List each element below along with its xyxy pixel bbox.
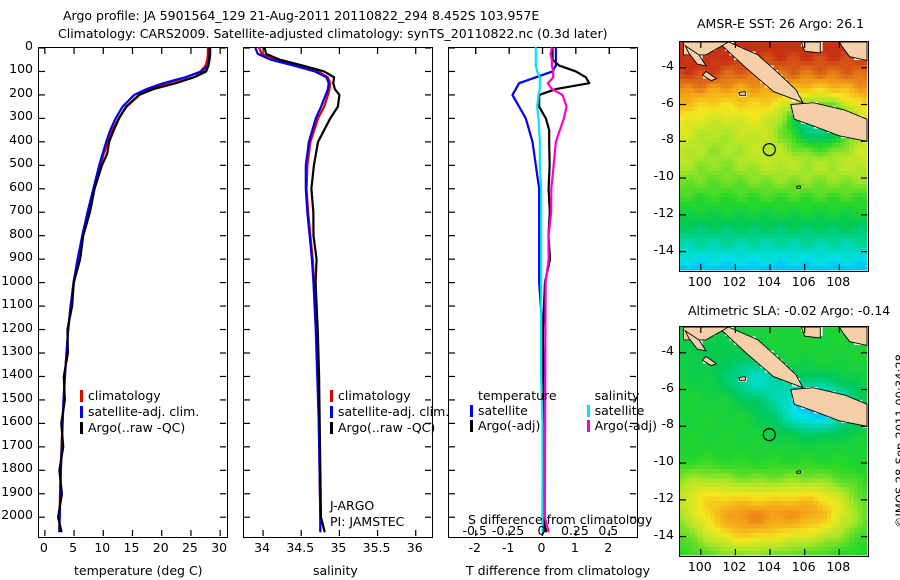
tick-label: 5 <box>69 540 77 555</box>
legend-swatch-climatology-s <box>330 390 333 402</box>
tick-label: -14 <box>654 242 674 257</box>
sst-map-title: AMSR-E SST: 26 Argo: 26.1 <box>697 16 864 31</box>
legend-swatch-argo-s <box>330 422 333 434</box>
tick-label: -8 <box>662 131 674 146</box>
tick-label: 700 <box>9 202 33 217</box>
legend-item-t-satellite: satellite <box>470 403 557 418</box>
sla-map-svg <box>680 327 867 555</box>
difference-xaxis-label-bottom: T difference from climatology <box>466 563 650 578</box>
tick-label: 1900 <box>1 484 33 499</box>
tick-label: -6 <box>662 95 674 110</box>
tick-label: 1300 <box>1 343 33 358</box>
tick-label: 34 <box>254 540 270 555</box>
tick-label: -10 <box>654 168 674 183</box>
tick-label: 102 <box>722 559 746 574</box>
temperature-profile-panel <box>38 47 228 538</box>
legend-item-satellite: satellite-adj. clim. <box>80 404 199 419</box>
legend-label-climatology-s: climatology <box>338 388 411 403</box>
tick-label: 30 <box>211 540 227 555</box>
tick-label: 200 <box>9 85 33 100</box>
salinity-profile-panel <box>243 47 433 538</box>
temperature-xaxis-label: temperature (deg C) <box>74 563 203 578</box>
tick-label: 106 <box>792 274 816 289</box>
tick-label: 1 <box>571 540 579 555</box>
tick-label: 1200 <box>1 320 33 335</box>
legend-header-salinity: salinity <box>595 388 657 403</box>
salinity-legend: climatology satellite-adj. clim. Argo(..… <box>330 388 449 435</box>
tick-label: 35 <box>330 540 346 555</box>
tick-label: 0.5 <box>598 523 618 538</box>
tick-label: 2 <box>604 540 612 555</box>
legend-swatch-s-argo <box>587 420 590 432</box>
tick-label: -6 <box>662 380 674 395</box>
salinity-annotation-pi: PI: JAMSTEC <box>330 514 404 529</box>
tick-label: 0 <box>40 540 48 555</box>
tick-label: -12 <box>654 205 674 220</box>
tick-label: 106 <box>792 559 816 574</box>
salinity-plot-svg <box>244 48 431 536</box>
legend-item-s-satellite: satellite <box>587 403 657 418</box>
legend-label-satellite-s: satellite-adj. clim. <box>338 404 449 419</box>
tick-label: 2000 <box>1 507 33 522</box>
difference-legend: temperature satellite Argo(-adj) salinit… <box>470 388 657 433</box>
tick-label: 1000 <box>1 273 33 288</box>
difference-profile-panel <box>448 47 638 538</box>
tick-label: 1800 <box>1 460 33 475</box>
tick-label: 300 <box>9 108 33 123</box>
legend-swatch-climatology <box>80 390 83 402</box>
tick-label: 1400 <box>1 366 33 381</box>
legend-label-t-argo: Argo(-adj) <box>478 418 540 433</box>
legend-label-s-satellite: satellite <box>595 403 645 418</box>
tick-label: 500 <box>9 155 33 170</box>
tick-label: 100 <box>688 559 712 574</box>
legend-label-satellite: satellite-adj. clim. <box>88 404 199 419</box>
tick-label: 108 <box>826 559 850 574</box>
tick-label: 104 <box>757 559 781 574</box>
tick-label: 36 <box>407 540 423 555</box>
tick-label: 0.25 <box>561 523 589 538</box>
tick-label: 102 <box>722 274 746 289</box>
copyright-label: ©IMOS 28-Sep-2011 00:34:28 <box>893 354 900 528</box>
tick-label: -4 <box>662 58 674 73</box>
copyright-text: ©IMOS 28-Sep-2011 00:34:28 <box>893 528 900 542</box>
figure-title-line1: Argo profile: JA 5901564_129 21-Aug-2011… <box>63 8 539 23</box>
tick-label: 900 <box>9 249 33 264</box>
legend-item-satellite-s: satellite-adj. clim. <box>330 404 449 419</box>
legend-swatch-satellite <box>80 406 83 418</box>
legend-swatch-s-satellite <box>587 405 590 417</box>
legend-header-temperature: temperature <box>478 388 557 403</box>
tick-label: 25 <box>182 540 198 555</box>
tick-label: 0 <box>538 523 546 538</box>
legend-item-t-argo: Argo(-adj) <box>470 418 557 433</box>
legend-item-s-argo: Argo(-adj) <box>587 418 657 433</box>
tick-label: 800 <box>9 226 33 241</box>
temperature-legend: climatology satellite-adj. clim. Argo(..… <box>80 388 199 435</box>
legend-label-t-satellite: satellite <box>478 403 528 418</box>
legend-label-argo-s: Argo(..raw -QC) <box>338 420 435 435</box>
tick-label: -14 <box>654 527 674 542</box>
salinity-xaxis-label: salinity <box>313 563 358 578</box>
tick-label: 15 <box>124 540 140 555</box>
tick-label: -8 <box>662 416 674 431</box>
tick-label: 104 <box>757 274 781 289</box>
sst-map-panel <box>679 41 869 272</box>
legend-label-s-argo: Argo(-adj) <box>595 418 657 433</box>
legend-item-argo-s: Argo(..raw -QC) <box>330 420 449 435</box>
difference-legend-col-temperature: temperature satellite Argo(-adj) <box>470 388 557 433</box>
tick-label: 100 <box>688 274 712 289</box>
tick-label: -10 <box>654 453 674 468</box>
tick-label: -0.5 <box>463 523 487 538</box>
tick-label: 100 <box>9 61 33 76</box>
legend-label-climatology: climatology <box>88 388 161 403</box>
legend-swatch-satellite-s <box>330 406 333 418</box>
tick-label: -0.25 <box>492 523 524 538</box>
tick-label: 34.5 <box>286 540 314 555</box>
legend-label-argo: Argo(..raw -QC) <box>88 420 185 435</box>
tick-label: -12 <box>654 490 674 505</box>
tick-label: -4 <box>662 343 674 358</box>
tick-label: -1 <box>502 540 514 555</box>
tick-label: 0 <box>538 540 546 555</box>
tick-label: -2 <box>468 540 480 555</box>
tick-label: 1700 <box>1 437 33 452</box>
temperature-plot-svg <box>39 48 226 536</box>
salinity-annotation-jargo: J-ARGO <box>330 498 374 513</box>
difference-plot-svg <box>449 48 636 536</box>
tick-label: 1500 <box>1 390 33 405</box>
legend-item-argo: Argo(..raw -QC) <box>80 420 199 435</box>
tick-label: 400 <box>9 132 33 147</box>
legend-swatch-t-satellite <box>470 405 473 417</box>
sla-map-title: Altimetric SLA: -0.02 Argo: -0.14 <box>688 303 890 318</box>
tick-label: 1100 <box>1 296 33 311</box>
tick-label: 0 <box>25 38 33 53</box>
tick-label: 600 <box>9 179 33 194</box>
tick-label: 10 <box>94 540 110 555</box>
difference-legend-col-salinity: salinity satellite Argo(-adj) <box>587 388 657 433</box>
tick-label: 1600 <box>1 413 33 428</box>
legend-item-climatology-s: climatology <box>330 388 449 403</box>
figure-title-line2: Climatology: CARS2009. Satellite-adjuste… <box>58 26 608 41</box>
tick-label: 20 <box>153 540 169 555</box>
tick-label: 108 <box>826 274 850 289</box>
sst-map-svg <box>680 42 867 270</box>
legend-swatch-argo <box>80 422 83 434</box>
sla-map-panel <box>679 326 869 557</box>
legend-swatch-t-argo <box>470 420 473 432</box>
tick-label: 35.5 <box>363 540 391 555</box>
legend-item-climatology: climatology <box>80 388 199 403</box>
